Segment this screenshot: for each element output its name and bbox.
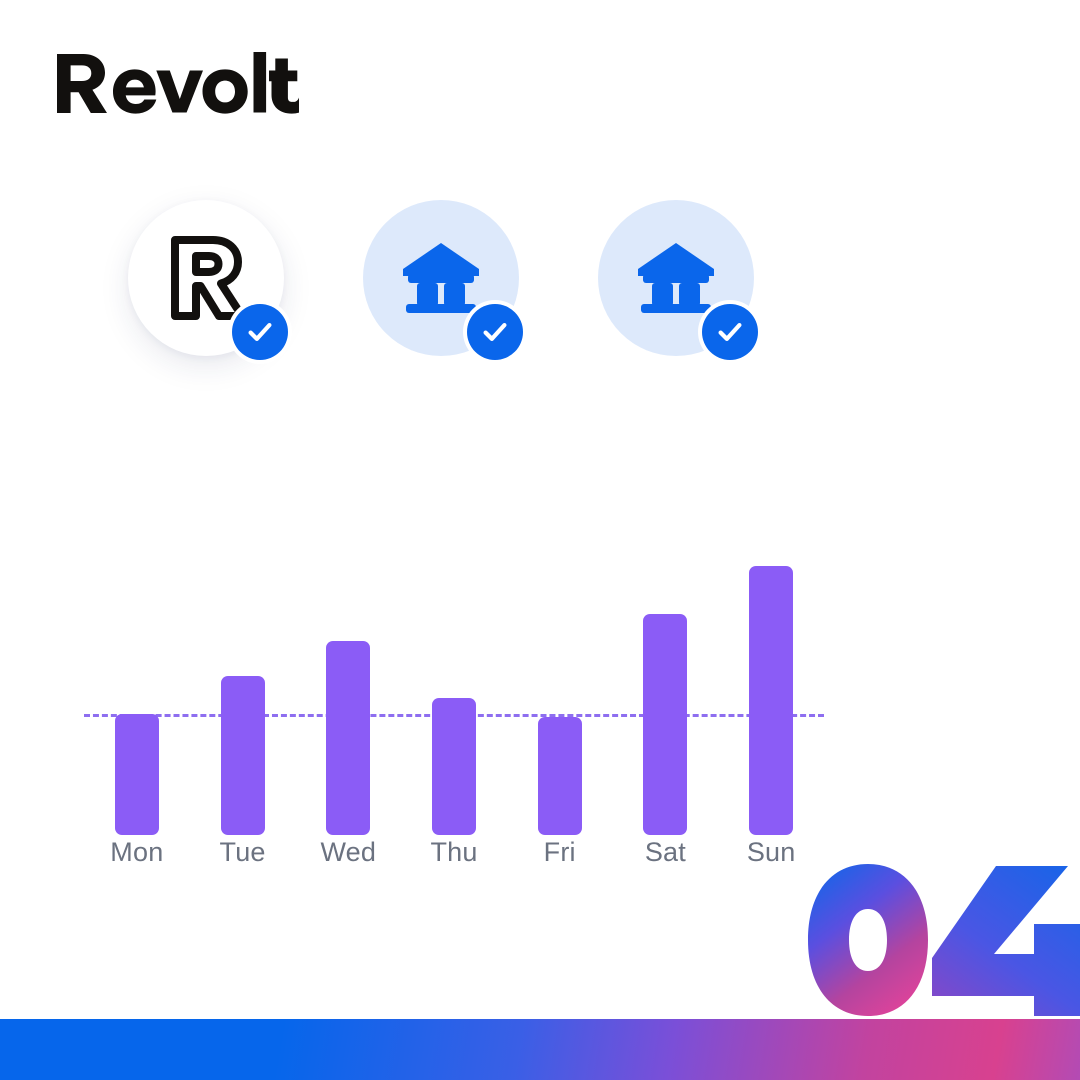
x-label-wed: Wed xyxy=(293,837,403,868)
verified-badge xyxy=(698,300,762,364)
account-badge-bank-2[interactable] xyxy=(598,200,754,356)
chart-plot-area xyxy=(84,545,824,835)
bar-series xyxy=(84,545,824,835)
x-label-fri: Fri xyxy=(505,837,615,868)
check-icon xyxy=(245,317,275,347)
bar-fri[interactable] xyxy=(538,717,582,835)
weekly-activity-chart: MonTueWedThuFriSatSun xyxy=(84,545,824,885)
footer-gradient-strip xyxy=(0,1019,1080,1080)
verified-badge xyxy=(228,300,292,364)
bar-thu[interactable] xyxy=(432,698,476,835)
x-label-mon: Mon xyxy=(82,837,192,868)
x-label-thu: Thu xyxy=(399,837,509,868)
bar-mon[interactable] xyxy=(115,714,159,835)
verified-badge xyxy=(463,300,527,364)
page-number xyxy=(790,862,1080,1022)
check-icon xyxy=(715,317,745,347)
account-badge-revolut[interactable] xyxy=(128,200,284,356)
bar-sat[interactable] xyxy=(643,614,687,835)
slide-canvas: MonTueWedThuFriSatSun xyxy=(0,0,1080,1080)
x-label-sat: Sat xyxy=(610,837,720,868)
bar-wed[interactable] xyxy=(326,641,370,835)
x-label-tue: Tue xyxy=(188,837,298,868)
revolut-logo xyxy=(57,52,357,124)
account-badge-bank-1[interactable] xyxy=(363,200,519,356)
verified-accounts-row xyxy=(128,200,754,356)
bar-sun[interactable] xyxy=(749,566,793,835)
check-icon xyxy=(480,317,510,347)
x-axis-labels: MonTueWedThuFriSatSun xyxy=(84,837,824,881)
bar-tue[interactable] xyxy=(221,676,265,835)
